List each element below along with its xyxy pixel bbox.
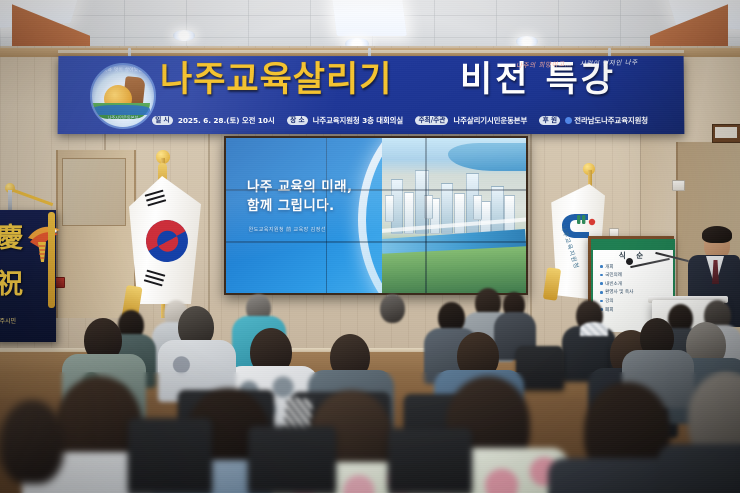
banner-rope	[58, 50, 684, 53]
emblem-top-text: 맛과 멋이 살아있는	[98, 67, 148, 79]
lecture-hall-photo: 맛과 멋이 살아있는 나주시민운동본부 나주교육살리기 비전 특강 나주의 희망…	[0, 0, 740, 493]
speaker-hair	[702, 226, 732, 243]
placard-item: 국민의례	[600, 272, 673, 278]
bullet-icon	[600, 274, 603, 277]
placard-item-label: 국민의례	[605, 272, 622, 278]
projection-screen-frame: 나주 교육의 미래, 함께 그립니다. 완도교육지원청 前 교육장 김정선	[224, 136, 528, 295]
placard-item-label: 내빈소개	[605, 281, 622, 287]
banner-title-primary: 나주교육살리기	[160, 63, 392, 98]
chair	[388, 428, 472, 493]
video-wall-screen: 나주 교육의 미래, 함께 그립니다. 완도교육지원청 前 교육장 김정선	[226, 138, 526, 293]
placard-item-label: 환영사 및 축사	[605, 289, 633, 295]
handwritten-left: 나주의 희망이고…	[516, 60, 572, 70]
info-tag-host: 주최/주관	[415, 116, 448, 126]
info-tag-place: 장 소	[287, 116, 308, 126]
placard-item-label: 강의	[605, 298, 613, 304]
organization-emblem-icon: 맛과 멋이 살아있는 나주시민운동본부	[90, 63, 156, 129]
screen-glare	[226, 138, 526, 293]
placard-item: 내빈소개	[600, 281, 673, 287]
bullet-icon	[600, 291, 603, 294]
bullet-icon	[600, 282, 603, 285]
ceiling-downlight	[173, 30, 195, 41]
bullet-icon	[600, 265, 603, 268]
microphone-head-icon	[626, 258, 633, 265]
placard-item-label: 개회	[605, 264, 613, 270]
placard-item-label: 폐회	[605, 307, 613, 313]
emblem-bottom-text: 나주시민운동본부	[96, 115, 150, 125]
info-value-place: 나주교육지원청 3층 대회의실	[313, 117, 403, 124]
sponsor-text: 전라남도나주교육지원청	[574, 116, 648, 125]
placard-item: 환영사 및 축사	[600, 289, 673, 295]
ceremonial-tassel	[48, 212, 55, 308]
ceremonial-char-1: 慶	[0, 216, 23, 255]
banner-info-row: 일 시 2025. 6. 28.(토) 오전 10시 장 소 나주교육지원청 3…	[152, 114, 648, 127]
ceiling-panel-light	[331, 0, 407, 36]
door-glass-panel	[62, 158, 126, 226]
info-value-sponsor: 전라남도나주교육지원청	[565, 117, 648, 124]
info-tag-sponsor: 후 원	[539, 116, 560, 126]
ceremonial-char-2: 祝	[0, 262, 23, 301]
info-tag-date: 일 시	[152, 116, 173, 126]
phoenix-emblem-icon	[24, 222, 64, 264]
handwritten-right: 사람이 먼저인 나주	[580, 58, 638, 68]
info-value-date: 2025. 6. 28.(토) 오전 10시	[178, 117, 275, 124]
info-value-host: 나주살리기시민운동본부	[453, 117, 527, 124]
wall-outlet[interactable]	[672, 180, 685, 191]
emblem-water-wave	[92, 105, 150, 115]
ceremonial-subtext: 나주시민	[0, 318, 34, 326]
wall-plaque-face	[715, 127, 737, 138]
bullet-icon	[600, 300, 603, 303]
sponsor-logo-icon	[565, 117, 572, 124]
chair	[128, 418, 212, 493]
chair	[248, 426, 336, 493]
